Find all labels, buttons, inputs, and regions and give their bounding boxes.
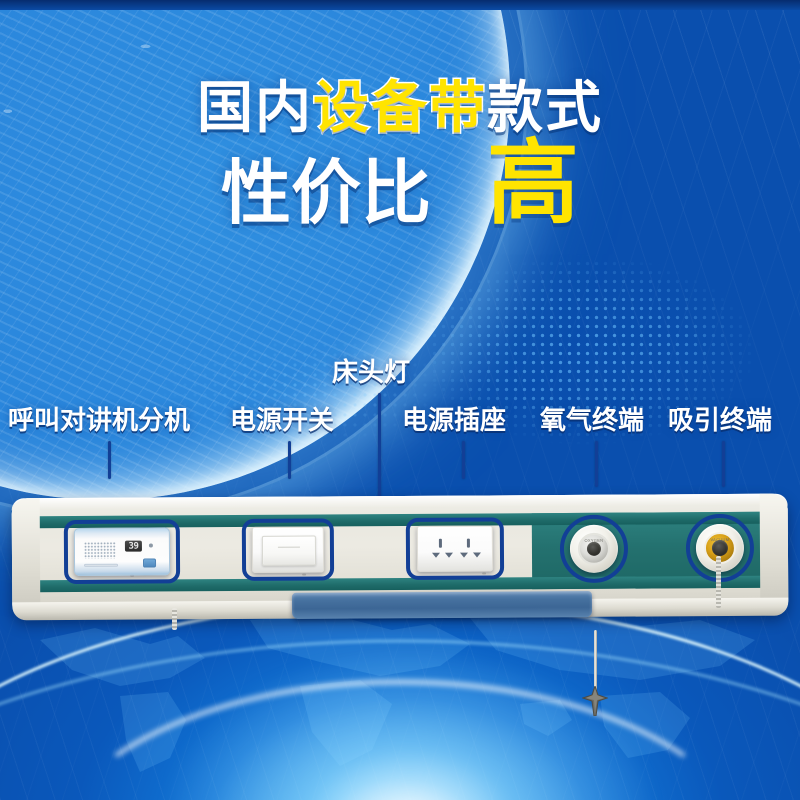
callout-oxygen: 氧气终端 bbox=[540, 407, 644, 433]
callout-suction: 吸引终端 bbox=[668, 407, 772, 433]
highlight-box-intercom bbox=[64, 519, 180, 584]
callout-label-bed-lamp: 床头灯 bbox=[332, 359, 410, 385]
headline-line-1: 国内设备带款式 bbox=[0, 80, 800, 136]
callout-bed-lamp: 床头灯 bbox=[332, 359, 410, 385]
headline-block: 国内设备带款式 性价比 高 bbox=[0, 80, 800, 240]
callout-labels: 呼叫对讲机分机 电源开关 床头灯 电源插座 氧气终端 吸引终端 bbox=[0, 355, 800, 505]
nurse-call-pull-cord[interactable] bbox=[594, 630, 597, 694]
callout-power-switch: 电源开关 bbox=[230, 407, 334, 433]
pull-cord-handle-icon[interactable] bbox=[582, 686, 608, 716]
callout-power-socket: 电源插座 bbox=[402, 407, 506, 433]
leader-line-power-socket bbox=[462, 441, 465, 479]
callout-label-intercom: 呼叫对讲机分机 bbox=[8, 407, 190, 433]
headline-part-style: 款式 bbox=[487, 76, 603, 139]
leader-line-power-switch bbox=[288, 441, 291, 479]
callout-label-oxygen: 氧气终端 bbox=[540, 407, 644, 433]
top-edge-band bbox=[0, 0, 800, 10]
callout-intercom: 呼叫对讲机分机 bbox=[8, 407, 190, 433]
callout-label-suction: 吸引终端 bbox=[668, 407, 772, 433]
highlight-circle-oxygen bbox=[560, 515, 628, 583]
headline-value-for-money: 性价比 bbox=[221, 158, 431, 228]
leader-line-oxygen bbox=[595, 441, 598, 487]
highlight-box-power-socket bbox=[406, 517, 504, 580]
leader-line-suction bbox=[722, 441, 725, 487]
panel-cord-short-left bbox=[172, 608, 177, 630]
headline-line-2: 性价比 高 bbox=[0, 158, 800, 228]
panel-top-edge bbox=[12, 494, 788, 511]
bed-lamp-diffuser bbox=[292, 591, 592, 619]
highlight-box-power-switch bbox=[242, 518, 334, 581]
panel-end-cap-left bbox=[12, 498, 41, 618]
panel-end-cap-right bbox=[760, 494, 789, 614]
bedhead-panel-assembly: 39 bbox=[12, 496, 788, 636]
callout-label-power-socket: 电源插座 bbox=[402, 407, 506, 433]
callout-label-power-switch: 电源开关 bbox=[230, 407, 334, 433]
panel-cord-short-right bbox=[716, 556, 721, 608]
headline-part-domestic: 国内 bbox=[197, 76, 313, 139]
product-poster: 国内设备带款式 性价比 高 呼叫对讲机分机 电源开关 床头灯 电源插座 氧气终端 bbox=[0, 0, 800, 800]
headline-part-equipment-belt: 设备带 bbox=[313, 76, 487, 139]
headline-emphasis-high: 高 bbox=[487, 142, 579, 227]
leader-line-intercom bbox=[108, 441, 111, 479]
